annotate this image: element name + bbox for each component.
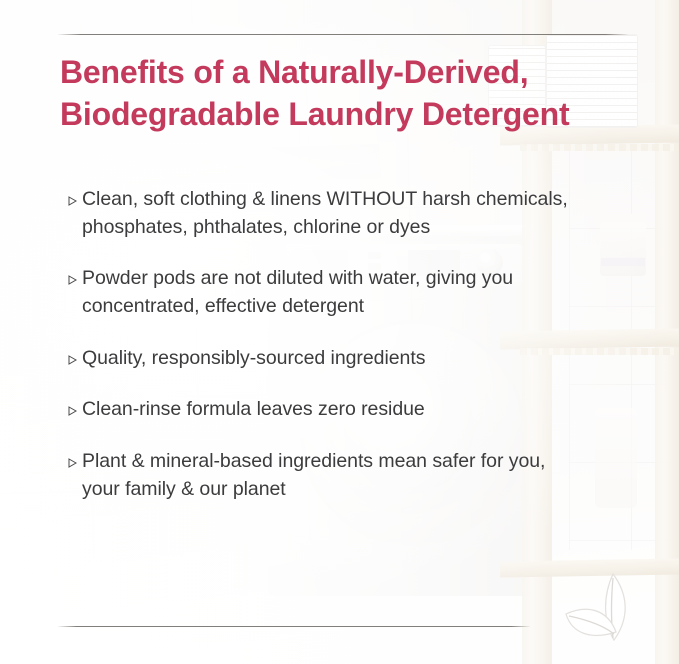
page-title: Benefits of a Naturally-Derived, Biodegr…: [60, 52, 660, 136]
list-item: Plant & mineral-based ingredients mean s…: [58, 448, 588, 503]
list-item: Clean, soft clothing & linens WITHOUT ha…: [58, 186, 588, 241]
bottom-divider: [58, 626, 530, 627]
infographic-card: Benefits of a Naturally-Derived, Biodegr…: [0, 0, 679, 664]
list-item: Quality, responsibly-sourced ingredients: [58, 345, 588, 373]
list-item: Powder pods are not diluted with water, …: [58, 265, 588, 320]
list-item: Clean-rinse formula leaves zero residue: [58, 396, 588, 424]
top-divider: [58, 34, 628, 35]
two-leaf-logo: [558, 568, 644, 654]
list-item-label: Clean-rinse formula leaves zero residue: [82, 396, 588, 424]
triangle-right-icon: [60, 266, 68, 276]
benefits-list: Clean, soft clothing & linens WITHOUT ha…: [58, 186, 588, 504]
list-item-label: Plant & mineral-based ingredients mean s…: [82, 448, 588, 503]
triangle-right-icon: [60, 187, 68, 197]
content-layer: Benefits of a Naturally-Derived, Biodegr…: [0, 0, 679, 664]
triangle-right-icon: [60, 397, 68, 407]
triangle-right-icon: [60, 346, 68, 356]
triangle-right-icon: [60, 449, 68, 459]
list-item-label: Quality, responsibly-sourced ingredients: [82, 345, 588, 373]
list-item-label: Clean, soft clothing & linens WITHOUT ha…: [82, 186, 588, 241]
page-title-line-1: Benefits of a Naturally-Derived,: [60, 52, 660, 94]
list-item-label: Powder pods are not diluted with water, …: [82, 265, 588, 320]
page-title-line-2: Biodegradable Laundry Detergent: [60, 94, 660, 136]
